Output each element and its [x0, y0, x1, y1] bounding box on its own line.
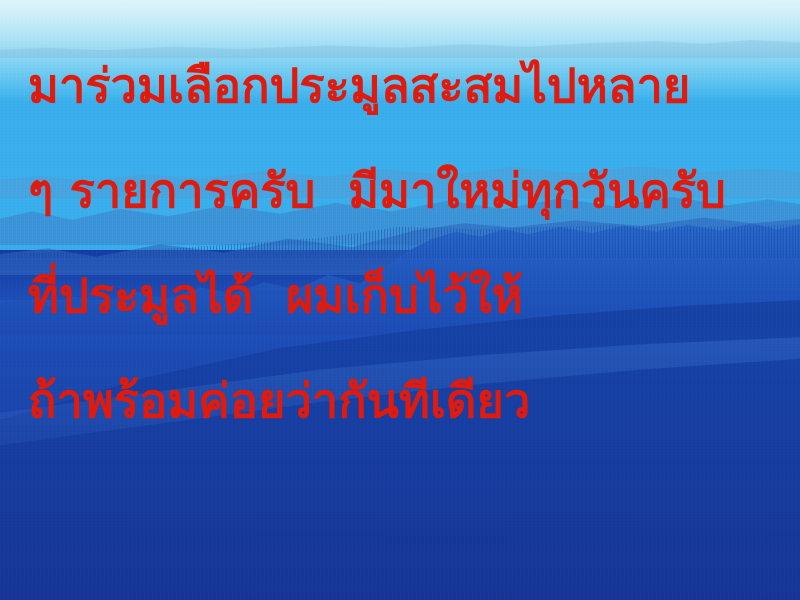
image-banner: มาร่วมเลือกประมูลสะสมไปหลาย ๆ รายการครับ… [0, 0, 800, 600]
caption-line-2: ๆ รายการครับ มีมาใหม่ทุกวันครับ [28, 139, 800, 244]
caption-line-1: มาร่วมเลือกประมูลสะสมไปหลาย [28, 34, 800, 139]
caption-overlay: มาร่วมเลือกประมูลสะสมไปหลาย ๆ รายการครับ… [0, 0, 800, 600]
caption-line-3: ที่ประมูลได้ ผมเก็บไว้ให้ [28, 244, 800, 349]
caption-line-4: ถ้าพร้อมค่อยว่ากันทีเดียว [28, 349, 800, 454]
